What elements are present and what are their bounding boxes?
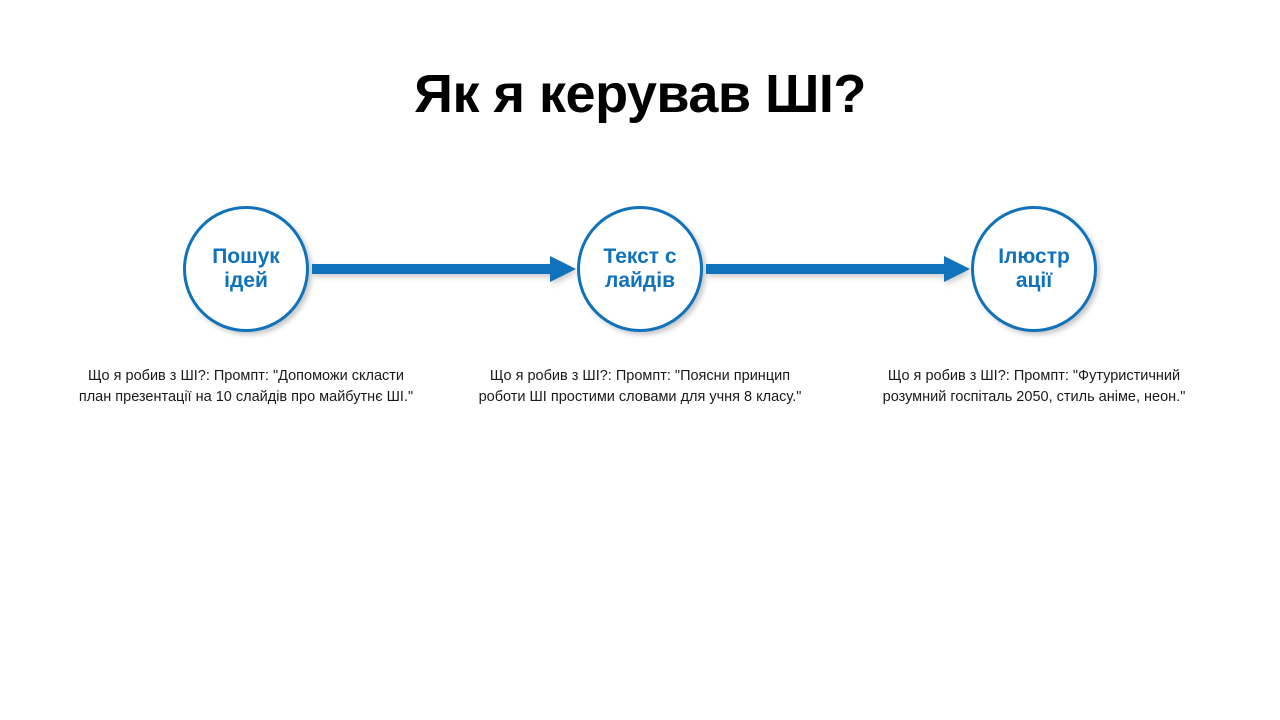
arrow-right-icon — [706, 256, 970, 282]
process-step-2-caption: Що я робив з ШІ?: Промпт: "Поясни принци… — [470, 366, 810, 408]
process-step-1-caption: Що я робив з ШІ?: Промпт: "Допоможи скла… — [76, 366, 416, 408]
process-step-2-circle[interactable]: Текст слайдів — [577, 206, 703, 332]
process-step-3-caption: Що я робив з ШІ?: Промпт: "Футуристичний… — [864, 366, 1204, 408]
process-step-1-label: Пошук ідей — [208, 245, 284, 293]
process-step-2-label: Текст слайдів — [602, 245, 678, 293]
process-step-3-circle[interactable]: Ілюстрації — [971, 206, 1097, 332]
slide-canvas: Як я керував ШІ? Пошук ідей Текст слайді… — [0, 0, 1280, 720]
process-step-3-label: Ілюстрації — [996, 245, 1072, 293]
process-step-1-circle[interactable]: Пошук ідей — [183, 206, 309, 332]
arrow-right-icon — [312, 256, 576, 282]
process-diagram: Пошук ідей Текст слайдів Ілюстрації Що я… — [0, 0, 1280, 720]
